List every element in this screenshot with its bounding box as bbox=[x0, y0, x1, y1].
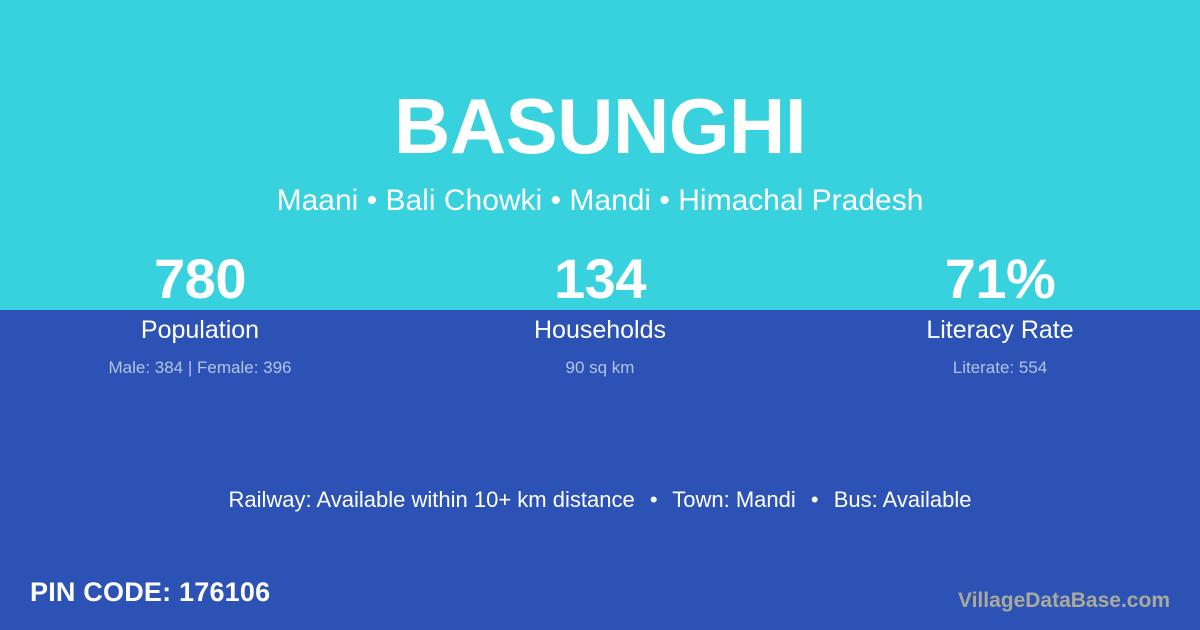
stat-label: Households bbox=[400, 314, 800, 346]
page-title: BASUNGHI bbox=[0, 83, 1200, 169]
stat-label: Population bbox=[0, 314, 400, 346]
stat-label: Literacy Rate bbox=[800, 314, 1200, 346]
site-watermark: VillageDataBase.com bbox=[958, 588, 1170, 614]
transport-railway: Railway: Available within 10+ km distanc… bbox=[228, 487, 634, 512]
stat-sublabel: Male: 384 | Female: 396 bbox=[0, 357, 400, 379]
transport-bus: Bus: Available bbox=[834, 487, 972, 512]
stat-sublabel: 90 sq km bbox=[400, 357, 800, 379]
transport-town: Town: Mandi bbox=[672, 487, 796, 512]
breadcrumb: Maani • Bali Chowki • Mandi • Himachal P… bbox=[0, 183, 1200, 219]
bullet-separator-icon: • bbox=[802, 487, 828, 512]
bullet-separator-icon: • bbox=[641, 487, 667, 512]
stat-population: 780 Population Male: 384 | Female: 396 bbox=[0, 248, 400, 379]
stats-row: 780 Population Male: 384 | Female: 396 1… bbox=[0, 248, 1200, 379]
stat-value: 134 bbox=[400, 248, 800, 310]
stat-value: 71% bbox=[800, 248, 1200, 310]
stat-literacy-rate: 71% Literacy Rate Literate: 554 bbox=[800, 248, 1200, 379]
transport-info: Railway: Available within 10+ km distanc… bbox=[0, 486, 1200, 514]
stat-sublabel: Literate: 554 bbox=[800, 357, 1200, 379]
stat-value: 780 bbox=[0, 248, 400, 310]
stat-households: 134 Households 90 sq km bbox=[400, 248, 800, 379]
pin-code: PIN CODE: 176106 bbox=[30, 575, 270, 609]
